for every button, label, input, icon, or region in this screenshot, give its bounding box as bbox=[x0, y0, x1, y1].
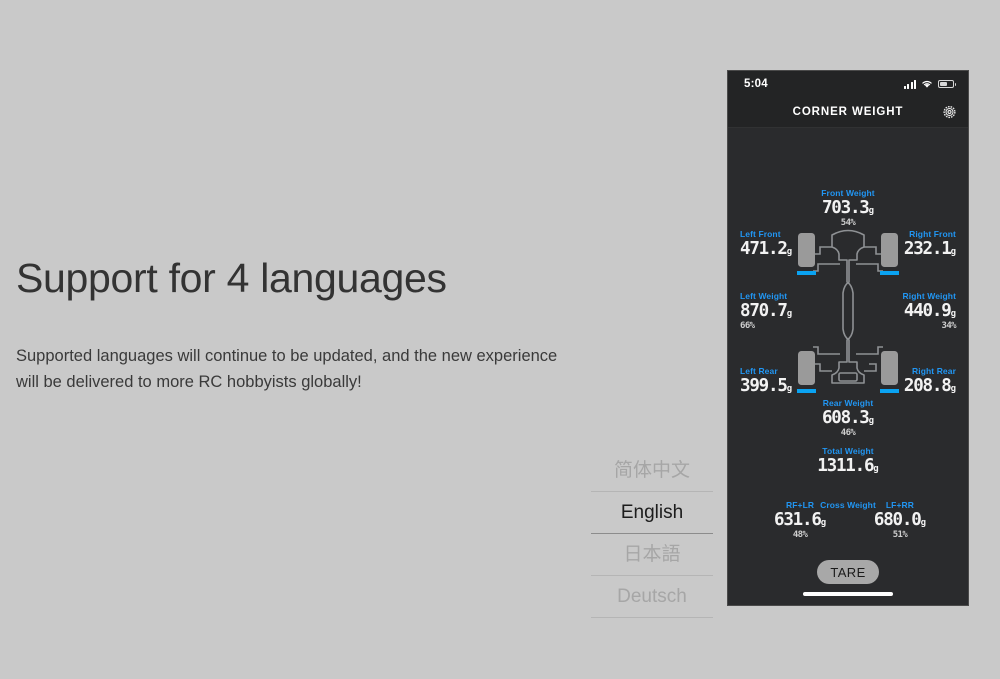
cellular-signal-icon bbox=[904, 80, 917, 89]
readout-front-weight: Front Weight 703.3g 54% bbox=[728, 188, 968, 228]
language-selector: 简体中文 English 日本語 Deutsch bbox=[591, 450, 713, 618]
readout-percent: 51% bbox=[893, 530, 907, 540]
readout-unit: g bbox=[869, 206, 874, 216]
marketing-copy-panel: Support for 4 languages Supported langua… bbox=[16, 255, 596, 395]
readout-unit: g bbox=[821, 518, 826, 528]
readout-unit: g bbox=[951, 384, 956, 394]
readout-cross-weight: Cross Weight bbox=[728, 500, 968, 510]
language-option-japanese[interactable]: 日本語 bbox=[591, 534, 713, 576]
readout-total-weight: Total Weight 1311.6g bbox=[728, 446, 968, 476]
readout-left-rear: Left Rear 399.5g bbox=[740, 366, 792, 396]
readout-right-front: Right Front 232.1g bbox=[904, 229, 956, 259]
readout-unit: g bbox=[787, 309, 792, 319]
language-option-english[interactable]: English bbox=[591, 492, 713, 534]
readout-value: 703.3g bbox=[822, 198, 874, 218]
readout-label: Right Front bbox=[909, 229, 956, 239]
chassis-diagram bbox=[794, 223, 902, 395]
status-bar-icons bbox=[904, 79, 955, 89]
language-option-zh-cn[interactable]: 简体中文 bbox=[591, 450, 713, 492]
readout-label: Left Rear bbox=[740, 366, 778, 376]
readout-value: 399.5g bbox=[740, 376, 792, 396]
readout-unit: g bbox=[873, 464, 878, 474]
readout-value: 631.6g bbox=[774, 510, 826, 530]
readout-label: Cross Weight bbox=[820, 500, 876, 510]
home-indicator bbox=[803, 592, 893, 596]
readout-unit: g bbox=[787, 247, 792, 257]
readout-percent: 48% bbox=[793, 530, 807, 540]
readout-value: 471.2g bbox=[740, 239, 792, 259]
readout-value: 870.7g bbox=[740, 301, 792, 321]
readout-unit: g bbox=[869, 416, 874, 426]
readout-label: Front Weight bbox=[821, 188, 874, 198]
readout-percent: 46% bbox=[841, 428, 855, 438]
gear-icon[interactable] bbox=[942, 105, 957, 120]
app-title: CORNER WEIGHT bbox=[793, 106, 904, 118]
readout-unit: g bbox=[951, 247, 956, 257]
readout-label: Right Weight bbox=[903, 291, 956, 301]
readout-value: 208.8g bbox=[904, 376, 956, 396]
language-option-deutsch[interactable]: Deutsch bbox=[591, 576, 713, 618]
readout-value: 608.3g bbox=[822, 408, 874, 428]
wifi-icon bbox=[921, 79, 933, 89]
readout-percent: 66% bbox=[740, 321, 754, 331]
readout-value: 1311.6g bbox=[817, 456, 878, 476]
readout-lf-plus-rr: LF+RR 680.0g 51% bbox=[874, 500, 926, 540]
readout-right-rear: Right Rear 208.8g bbox=[904, 366, 956, 396]
readout-unit: g bbox=[951, 309, 956, 319]
app-header: CORNER WEIGHT bbox=[728, 97, 968, 128]
phone-mockup: 5:04 CORNER WEIGHT bbox=[727, 70, 969, 606]
readout-right-weight: Right Weight 440.9g 34% bbox=[903, 291, 956, 331]
readout-label: Left Front bbox=[740, 229, 781, 239]
readout-value: 680.0g bbox=[874, 510, 926, 530]
readout-value: 440.9g bbox=[904, 301, 956, 321]
readout-value: 232.1g bbox=[904, 239, 956, 259]
readout-label: Rear Weight bbox=[823, 398, 874, 408]
tare-button[interactable]: TARE bbox=[817, 560, 879, 584]
corner-weight-readouts: Front Weight 703.3g 54% Left Front 471.2… bbox=[728, 128, 968, 580]
readout-left-front: Left Front 471.2g bbox=[740, 229, 792, 259]
battery-icon bbox=[938, 80, 954, 88]
readout-percent: 34% bbox=[942, 321, 956, 331]
readout-percent: 54% bbox=[841, 218, 855, 228]
page-title: Support for 4 languages bbox=[16, 255, 596, 302]
readout-label: Total Weight bbox=[822, 446, 873, 456]
readout-left-weight: Left Weight 870.7g 66% bbox=[740, 291, 792, 331]
status-bar-time: 5:04 bbox=[744, 78, 768, 90]
readout-label: Left Weight bbox=[740, 291, 787, 301]
readout-label: Right Rear bbox=[912, 366, 956, 376]
readout-unit: g bbox=[787, 384, 792, 394]
readout-rear-weight: Rear Weight 608.3g 46% bbox=[728, 398, 968, 438]
readout-label: LF+RR bbox=[886, 500, 914, 510]
page-subtitle: Supported languages will continue to be … bbox=[16, 344, 576, 395]
status-bar: 5:04 bbox=[728, 71, 968, 97]
readout-unit: g bbox=[921, 518, 926, 528]
